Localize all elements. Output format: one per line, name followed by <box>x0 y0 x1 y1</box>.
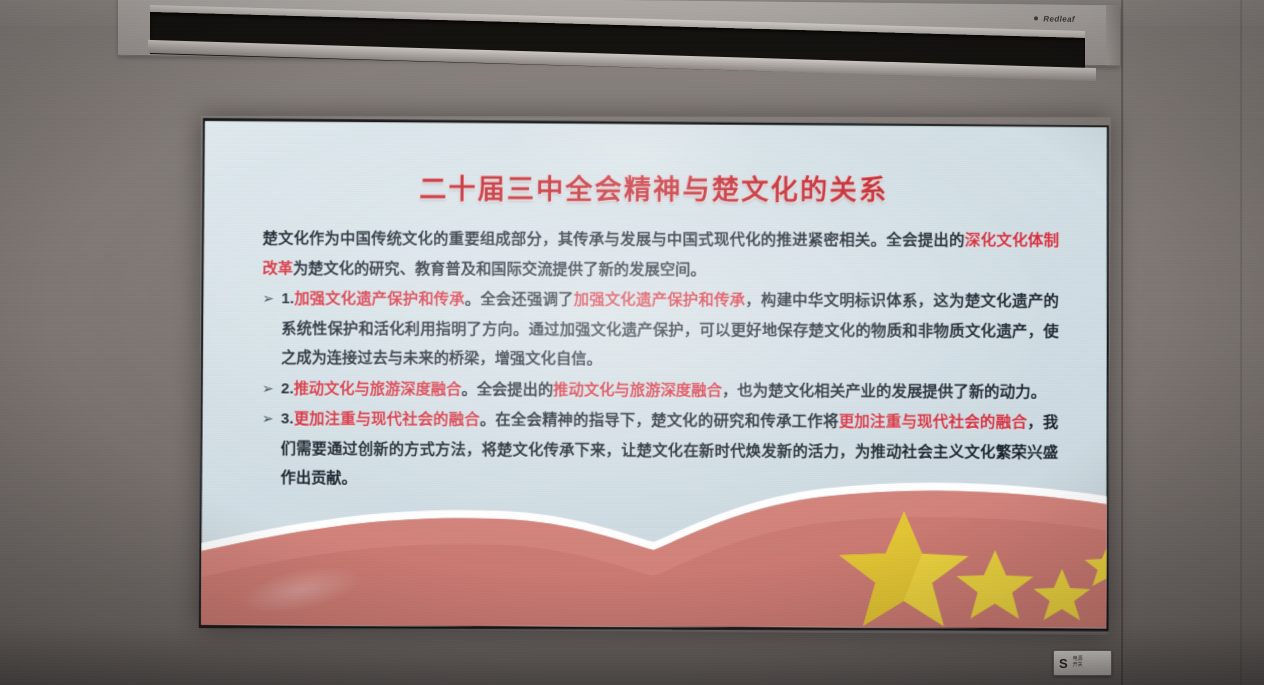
bullet-3-run-2-highlight: 更加注重与现代社会的融合 <box>839 413 1028 431</box>
intro-paragraph: 楚文化作为中国传统文化的重要组成部分，其传承与发展与中国式现代化的推进紧密相关。… <box>262 224 1059 286</box>
bullet-2-run-1: 。全会提出的 <box>461 381 553 398</box>
slide-title: 二十届三中全会精神与楚文化的关系 <box>203 167 1109 208</box>
bullet-3-number: 3. <box>281 410 294 427</box>
wall-seam-far-right <box>1240 0 1243 685</box>
bullet-1-number: 1. <box>281 290 294 307</box>
bullet-2-number: 2. <box>281 380 294 397</box>
plate-logo-icon: S <box>1059 657 1068 670</box>
bullet-2-run-3: ，也为楚文化相关产业的发展提供了新的动力。 <box>722 382 1046 401</box>
list-item: ➢ 3.更加注重与现代社会的融合。在全会精神的指导下，楚文化的研究和传承工作将更… <box>262 404 1059 497</box>
bullet-1-text: 1.加强文化遗产保护和传承。全会还强调了加强文化遗产保护和传承，构建中华文明标识… <box>281 284 1059 376</box>
bullet-2-text: 2.推动文化与旅游深度融合。全会提出的推动文化与旅游深度融合，也为楚文化相关产业… <box>281 374 1059 407</box>
bullet-1-run-0-highlight: 加强文化遗产保护和传承 <box>294 290 465 308</box>
plate-sub-line-2: 开关 <box>1073 662 1083 668</box>
arrow-bullet-icon: ➢ <box>262 284 281 314</box>
brand-dot-icon <box>1034 16 1038 20</box>
arrow-bullet-icon: ➢ <box>262 404 281 434</box>
bullet-2-run-0-highlight: 推动文化与旅游深度融合 <box>294 380 462 398</box>
bullet-1-run-1: 。全会还强调了 <box>465 291 574 308</box>
slide-body: 楚文化作为中国传统文化的重要组成部分，其传承与发展与中国式现代化的推进紧密相关。… <box>262 224 1060 497</box>
intro-run-2: 为楚文化的研究、教育普及和国际交流提供了新的发展空间。 <box>293 260 706 278</box>
bullet-2-run-2-highlight: 推动文化与旅游深度融合 <box>553 381 722 399</box>
plate-sub-label: 电源 开关 <box>1073 657 1083 669</box>
wall-seam-right <box>1121 0 1124 685</box>
bullet-3-run-0-highlight: 更加注重与现代社会的融合 <box>294 410 480 428</box>
bullet-1-run-2-highlight: 加强文化遗产保护和传承 <box>574 291 746 309</box>
projector-screen-brand-label: Redleaf <box>1043 14 1075 23</box>
list-item: ➢ 1.加强文化遗产保护和传承。全会还强调了加强文化遗产保护和传承，构建中华文明… <box>262 284 1059 376</box>
presentation-slide: 二十届三中全会精神与楚文化的关系 楚文化作为中国传统文化的重要组成部分，其传承与… <box>201 119 1109 632</box>
bullet-3-run-1: 。在全会精神的指导下，楚文化的研究和传承工作将 <box>480 411 839 430</box>
photo-scene: Redleaf 二十届三中全会精神与楚文化的关系 楚文化作为中国传统文化的重要组… <box>0 0 1264 685</box>
list-item: ➢ 2.推动文化与旅游深度融合。全会提出的推动文化与旅游深度融合，也为楚文化相关… <box>262 374 1059 407</box>
arrow-bullet-icon: ➢ <box>262 374 281 404</box>
housing-end-cap <box>1106 5 1120 65</box>
intro-run-0: 楚文化作为中国传统文化的重要组成部分，其传承与发展与中国式现代化的推进紧密相关。… <box>263 230 965 249</box>
bullet-3-text: 3.更加注重与现代社会的融合。在全会精神的指导下，楚文化的研究和传承工作将更加注… <box>281 404 1059 497</box>
wall-switch-plate[interactable]: S 电源 开关 <box>1053 650 1112 676</box>
projected-slide-area: 二十届三中全会精神与楚文化的关系 楚文化作为中国传统文化的重要组成部分，其传承与… <box>199 116 1111 635</box>
